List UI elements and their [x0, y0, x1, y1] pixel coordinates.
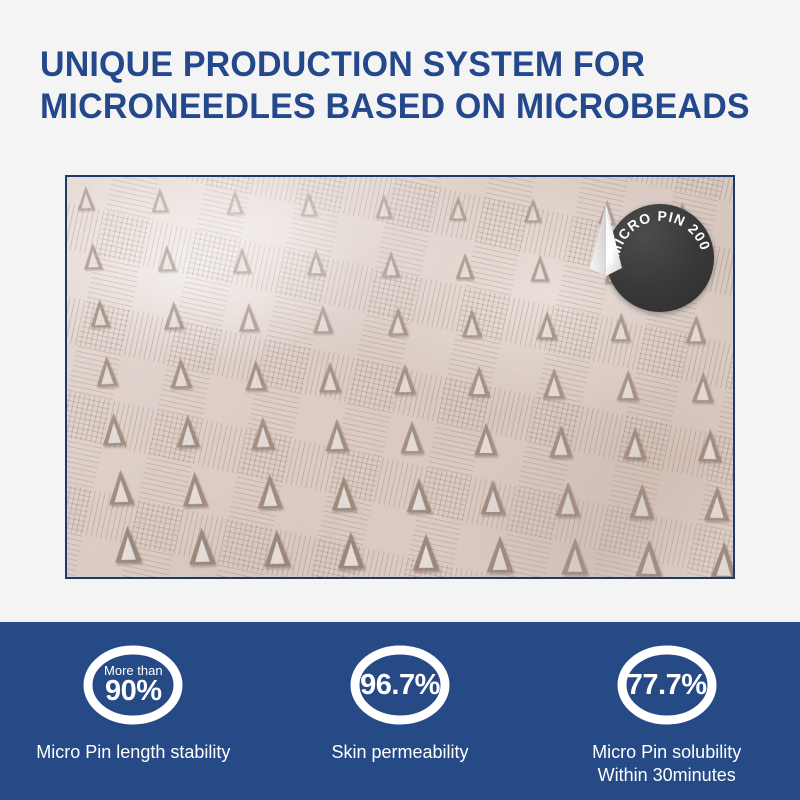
microneedle	[238, 303, 259, 332]
microneedle	[381, 251, 400, 277]
microneedle	[338, 532, 365, 569]
microneedle	[313, 305, 334, 333]
microneedle	[617, 370, 640, 401]
microneedle	[189, 528, 217, 565]
microneedle	[542, 368, 564, 398]
page-title-line-2: MICRONEEDLES BASED ON MICROBEADS	[40, 86, 748, 128]
microneedle	[331, 475, 357, 510]
microneedle	[691, 372, 714, 403]
microneedle	[307, 249, 327, 275]
microneedle	[263, 530, 291, 567]
microneedle	[710, 542, 735, 579]
microneedle	[102, 412, 127, 445]
microneedle	[474, 423, 498, 455]
stat-caption-skin-permeability: Skin permeability	[331, 741, 468, 764]
microneedle	[549, 425, 573, 458]
microneedle	[176, 414, 201, 447]
microneedle	[232, 246, 252, 272]
donut-chart-micro-pin-length-stability: More than90%	[81, 643, 185, 727]
microneedle	[158, 244, 178, 271]
microneedle	[375, 194, 393, 218]
microneedle	[449, 196, 467, 220]
donut-track	[355, 650, 445, 720]
donut-track	[88, 650, 178, 720]
microneedle	[108, 469, 134, 504]
page-title-line-1: UNIQUE PRODUCTION SYSTEM FOR	[40, 44, 748, 86]
microneedle	[468, 366, 490, 396]
stat-caption-line-1: Skin permeability	[331, 741, 468, 764]
microneedle	[412, 534, 439, 571]
microneedle	[462, 309, 483, 337]
microneedle	[629, 483, 655, 518]
microneedle	[530, 255, 549, 281]
microneedle	[151, 188, 169, 212]
donut-chart-skin-permeability: 96.7%	[348, 643, 452, 727]
microneedle	[487, 536, 514, 573]
microneedle	[704, 485, 730, 520]
stat-caption-line-1: Micro Pin solubility	[592, 741, 741, 764]
stat-caption-micro-pin-solubility: Micro Pin solubilityWithin 30minutes	[592, 741, 741, 787]
microneedle	[555, 481, 581, 516]
microneedle	[319, 362, 342, 393]
page-title: UNIQUE PRODUCTION SYSTEM FOR MICRONEEDLE…	[40, 44, 770, 128]
microneedle	[697, 428, 721, 461]
stat-caption-line-2: Within 30minutes	[592, 764, 741, 787]
microneedle	[456, 253, 475, 279]
microneedle	[226, 190, 244, 214]
donut-track	[622, 650, 712, 720]
microneedle	[89, 299, 111, 328]
microneedle	[561, 538, 588, 575]
stat-caption-micro-pin-length-stability: Micro Pin length stability	[36, 741, 230, 764]
microneedle	[83, 242, 103, 269]
microneedle	[406, 477, 432, 512]
needle-pin-icon	[584, 204, 628, 276]
microneedle	[251, 416, 275, 449]
stat-skin-permeability: 96.7%Skin permeability	[267, 622, 534, 800]
microneedle	[400, 421, 424, 454]
microneedle	[164, 301, 185, 330]
microneedle	[244, 360, 267, 391]
microneedle	[182, 471, 208, 506]
microneedle	[536, 311, 557, 339]
stat-micro-pin-length-stability: More than90%Micro Pin length stability	[0, 622, 267, 800]
microneedle	[300, 192, 318, 216]
microneedle	[77, 186, 95, 211]
microneedle	[257, 473, 283, 508]
stats-row: More than90%Micro Pin length stability96…	[0, 622, 800, 800]
microneedle	[685, 315, 706, 344]
donut-chart-micro-pin-solubility: 77.7%	[615, 643, 719, 727]
microneedle	[623, 426, 647, 459]
stat-caption-line-1: Micro Pin length stability	[36, 741, 230, 764]
microneedle	[611, 313, 632, 341]
microneedle	[114, 526, 142, 564]
microneedle	[394, 364, 416, 394]
stat-micro-pin-solubility: 77.7%Micro Pin solubilityWithin 30minute…	[533, 622, 800, 800]
microneedle	[481, 479, 506, 514]
microneedle	[387, 307, 408, 335]
microneedle	[325, 418, 349, 451]
micro-pin-200-badge: MICRO PIN 200	[606, 204, 714, 312]
microneedle	[170, 358, 193, 389]
stats-band: More than90%Micro Pin length stability96…	[0, 622, 800, 800]
microneedle	[635, 540, 662, 577]
microneedle	[524, 198, 542, 222]
microneedle	[95, 356, 118, 387]
